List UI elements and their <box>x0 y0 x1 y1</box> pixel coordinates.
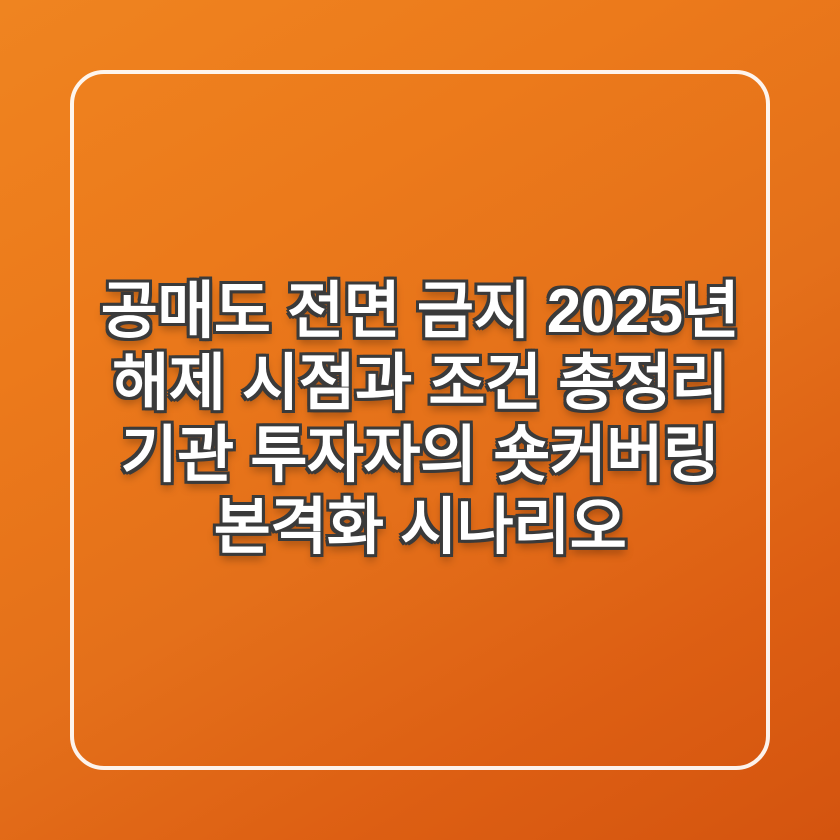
thumbnail-card: 공매도 전면 금지 2025년 해제 시점과 조건 총정리 기관 투자자의 숏커… <box>0 0 840 840</box>
card-title: 공매도 전면 금지 2025년 해제 시점과 조건 총정리 기관 투자자의 숏커… <box>100 276 740 564</box>
